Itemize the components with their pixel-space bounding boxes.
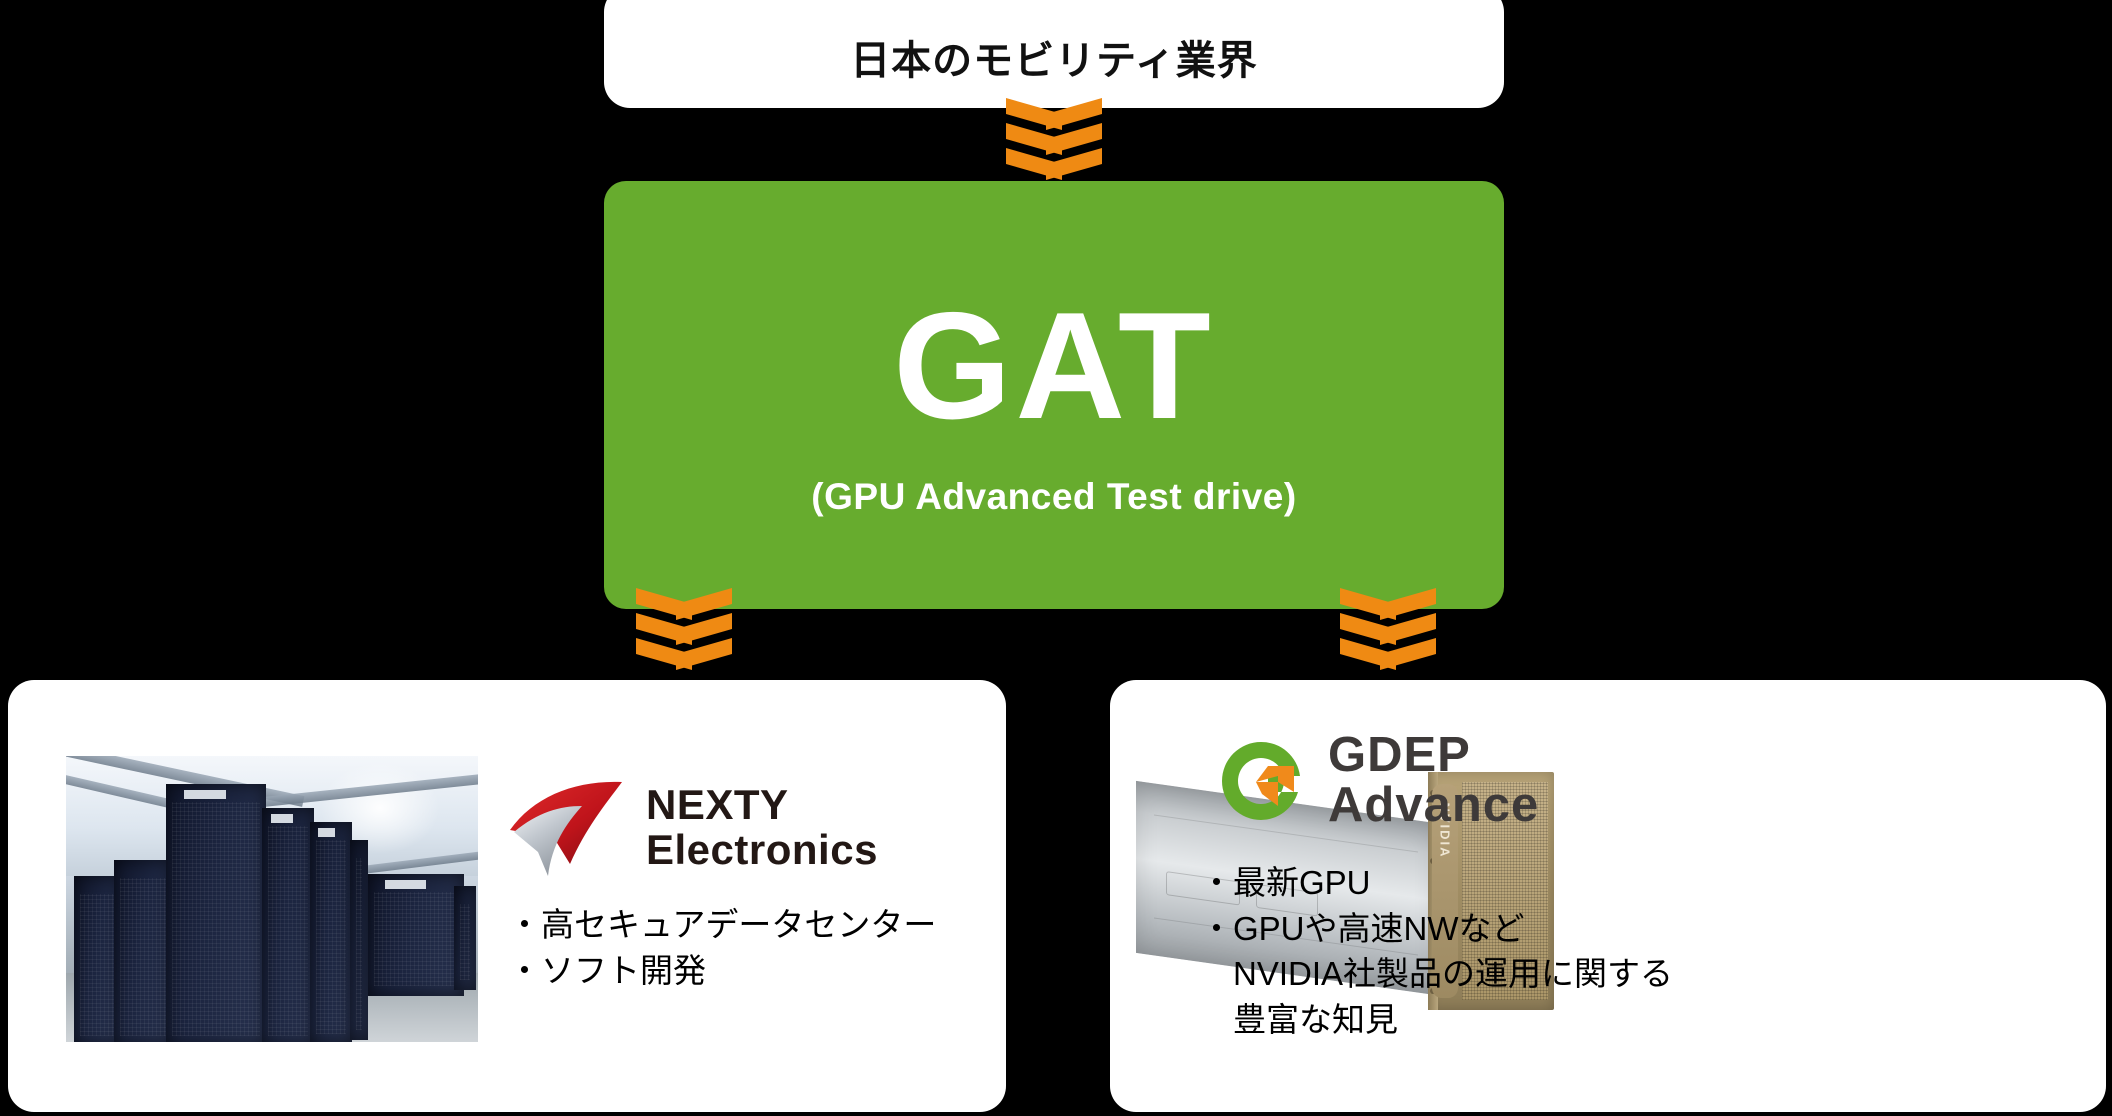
chevron-segment — [636, 638, 732, 668]
gat-title: GAT — [893, 290, 1215, 442]
list-item: 豊富な知見 — [1200, 997, 1760, 1043]
nexty-logo: NEXTY Electronics — [508, 768, 958, 888]
gdep-wordmark: GDEP Advance — [1328, 731, 1539, 831]
chevron-up-icon-from-nexty — [636, 588, 732, 680]
list-item: ・GPUや高速NWなど — [1200, 906, 1760, 952]
photo-server-rack — [368, 874, 464, 996]
nexty-swoosh-icon — [508, 772, 628, 884]
nexty-wordmark: NEXTY Electronics — [646, 783, 878, 872]
gdep-wordmark-line2: Advance — [1328, 781, 1539, 831]
list-item: ・ソフト開発 — [508, 948, 978, 994]
chevron-segment — [1340, 638, 1436, 668]
photo-server-rack — [166, 784, 266, 1042]
gdep-g-arrow-icon — [1216, 736, 1306, 826]
list-item: NVIDIA社製品の運用に関する — [1200, 951, 1760, 997]
chevron-up-icon-to-industry — [1006, 98, 1102, 190]
gdep-bullet-list: ・最新GPU ・GPUや高速NWなど NVIDIA社製品の運用に関する 豊富な知… — [1200, 860, 1760, 1042]
photo-server-rack — [350, 840, 368, 1040]
gdep-wordmark-line1: GDEP — [1328, 731, 1539, 781]
nexty-wordmark-line2: Electronics — [646, 828, 878, 873]
photo-server-rack — [310, 822, 352, 1042]
gdep-logo: GDEP Advance — [1216, 728, 1696, 834]
industry-box-label: 日本のモビリティ業界 — [850, 28, 1258, 86]
chevron-up-icon-from-gdep — [1340, 588, 1436, 680]
nexty-bullet-list: ・高セキュアデータセンター ・ソフト開発 — [508, 902, 978, 993]
chevron-segment — [1006, 148, 1102, 178]
photo-server-rack — [262, 808, 314, 1042]
photo-server-rack — [454, 886, 476, 990]
industry-box: 日本のモビリティ業界 — [604, 0, 1504, 108]
photo-server-rack — [114, 860, 172, 1042]
list-item: ・高セキュアデータセンター — [508, 902, 978, 948]
gat-box: GAT (GPU Advanced Test drive) — [604, 181, 1504, 609]
nexty-wordmark-line1: NEXTY — [646, 783, 878, 828]
gat-subtitle: (GPU Advanced Test drive) — [811, 476, 1296, 518]
partner-card-gdep: NVIDIA GDEP Advance ・最新GPU ・GPUや高速NW — [1110, 680, 2106, 1112]
list-item: ・最新GPU — [1200, 860, 1760, 906]
data-center-photo — [66, 756, 478, 1042]
partner-card-nexty: NEXTY Electronics ・高セキュアデータセンター ・ソフト開発 — [8, 680, 1006, 1112]
